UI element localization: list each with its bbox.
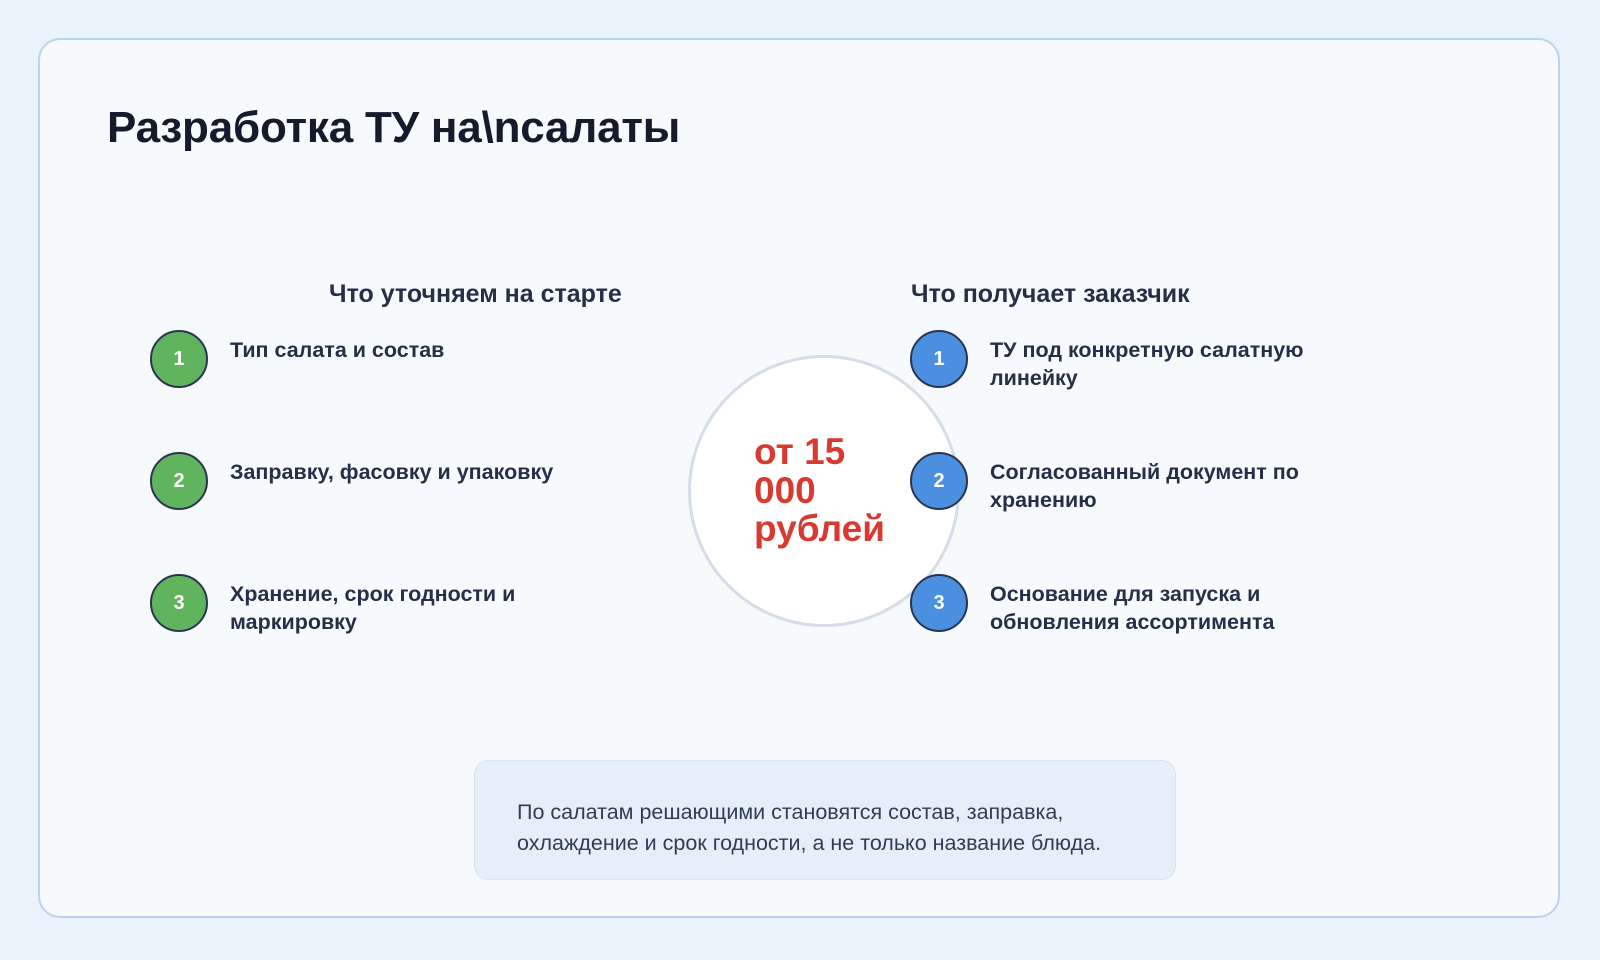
list-item-label: Заправку, фасовку и упаковку	[230, 458, 553, 486]
step-number-badge: 2	[910, 452, 968, 510]
list-item-label: ТУ под конкретную салатную линейку	[990, 336, 1380, 393]
price-label: от 15 000 рублей	[754, 433, 894, 550]
left-column-heading: Что уточняем на старте	[329, 280, 622, 309]
list-item: 3 Основание для запуска и обновления асс…	[910, 574, 1390, 637]
list-item-label: Тип салата и состав	[230, 336, 444, 364]
note-box: По салатам решающими становятся состав, …	[474, 760, 1176, 880]
list-item-label: Согласованный документ по хранению	[990, 458, 1380, 515]
step-number-badge: 3	[150, 574, 208, 632]
content-card: Разработка ТУ на\nсалаты Что уточняем на…	[38, 38, 1560, 918]
list-item: 3 Хранение, срок годности и маркировку	[150, 574, 630, 637]
step-number-badge: 2	[150, 452, 208, 510]
step-number-badge: 3	[910, 574, 968, 632]
note-text: По салатам решающими становятся состав, …	[517, 797, 1117, 859]
right-column-heading: Что получает заказчик	[911, 280, 1190, 309]
list-item-label: Хранение, срок годности и маркировку	[230, 580, 620, 637]
list-item: 2 Согласованный документ по хранению	[910, 452, 1390, 515]
list-item: 1 ТУ под конкретную салатную линейку	[910, 330, 1390, 393]
page-title: Разработка ТУ на\nсалаты	[107, 103, 680, 153]
step-number-badge: 1	[910, 330, 968, 388]
list-item: 2 Заправку, фасовку и упаковку	[150, 452, 630, 510]
step-number-badge: 1	[150, 330, 208, 388]
list-item-label: Основание для запуска и обновления ассор…	[990, 580, 1380, 637]
infographic-canvas: Разработка ТУ на\nсалаты Что уточняем на…	[0, 0, 1600, 960]
list-item: 1 Тип салата и состав	[150, 330, 630, 388]
